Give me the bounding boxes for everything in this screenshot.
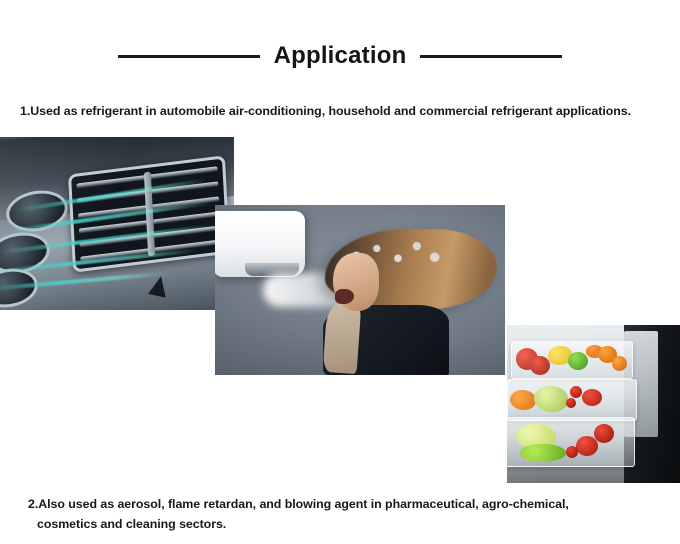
produce-cherry-red [566, 446, 578, 458]
produce-grapes-green [520, 444, 566, 462]
image-car-air-conditioning-vent [0, 137, 234, 310]
application-caption-1: 1.Used as refrigerant in automobile air-… [20, 104, 631, 118]
page-title: Application [274, 44, 407, 68]
fridge-drawer-bottom [507, 417, 635, 467]
produce-apple-red [594, 424, 614, 443]
header-rule-left [118, 55, 260, 58]
produce-bell-pepper-orange [510, 390, 536, 410]
produce-apple-red [530, 356, 550, 375]
application-caption-2: 2.Also used as aerosol, flame retardan, … [28, 494, 638, 534]
page-header: Application [0, 38, 680, 74]
image-refrigerator-produce-drawers [507, 325, 680, 483]
produce-tangerine [612, 356, 627, 371]
produce-tomato-red [582, 389, 602, 406]
produce-cherry-red [570, 386, 582, 398]
fridge-drawer-middle [507, 379, 637, 421]
woman-collar [323, 302, 362, 374]
fridge-drawer-top [511, 341, 633, 379]
vent-center-divider [144, 171, 155, 257]
produce-cherry-red [566, 398, 576, 408]
produce-cabbage-green [534, 386, 568, 412]
application-caption-2-line-2: cosmetics and cleaning sectors. [28, 514, 638, 534]
application-caption-2-line-1: 2.Also used as aerosol, flame retardan, … [28, 497, 569, 511]
image-split-air-conditioner-woman [215, 205, 505, 375]
produce-tomato-red [576, 436, 598, 456]
produce-lime-green [568, 352, 588, 370]
header-rule-right [420, 55, 562, 58]
